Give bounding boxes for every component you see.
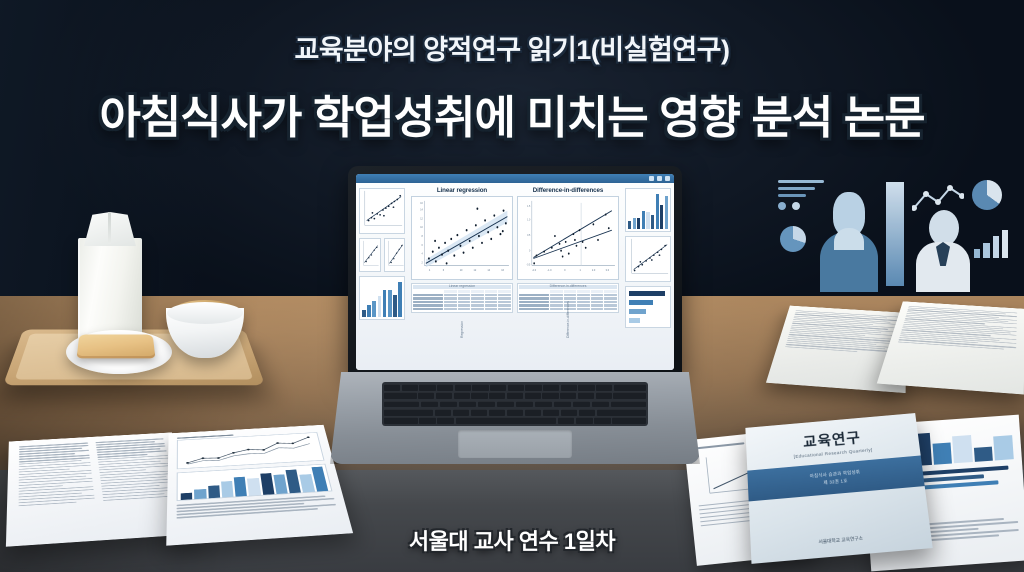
info-dot-1	[778, 202, 786, 210]
svg-text:16: 16	[420, 201, 423, 205]
svg-text:1.5: 1.5	[527, 203, 531, 207]
close-icon[interactable]	[665, 176, 670, 181]
svg-text:12: 12	[474, 268, 477, 272]
laptop-screen[interactable]: Linear regression	[356, 174, 674, 370]
svg-text:0: 0	[529, 248, 531, 252]
svg-text:16: 16	[501, 268, 504, 272]
linear-regression-block: Linear regression	[411, 187, 513, 366]
window-controls[interactable]	[649, 176, 670, 181]
difference-in-differences-block: Difference-in-differences	[517, 187, 619, 366]
toast-slice	[77, 335, 156, 359]
main-chart-area: Linear regression	[408, 183, 622, 370]
info-line-2	[778, 187, 815, 190]
analysis-dashboard: Linear regression	[356, 183, 674, 370]
svg-text:10: 10	[420, 225, 423, 229]
thumbnail-canvas: Linear regression	[0, 0, 1024, 572]
milk-carton	[78, 212, 142, 344]
page-title: 아침식사가 학업성취에 미치는 영향 분석 논문	[0, 81, 1024, 146]
side-bars-right[interactable]	[625, 188, 671, 232]
journal-band-line-1: 아침식사 습관과 학업성취	[810, 469, 861, 479]
subtitle-text: 교육분야의 양적연구 읽기1(비실험연구)	[0, 28, 1024, 67]
svg-text:12: 12	[420, 216, 423, 220]
chart-ylabel-linear-regression: Regression	[460, 238, 464, 338]
info-dot-2	[792, 202, 800, 210]
svg-text:14: 14	[420, 207, 423, 211]
chart-title-linear-regression: Linear regression	[411, 187, 513, 194]
chart-title-difference-in-differences: Difference-in-differences	[517, 187, 619, 194]
open-textbook	[778, 272, 1024, 420]
svg-text:2.0: 2.0	[592, 268, 596, 272]
text-column	[18, 442, 95, 508]
side-bars-left[interactable]	[359, 276, 405, 320]
svg-text:6: 6	[421, 242, 423, 246]
info-line-3	[778, 194, 806, 197]
svg-text:-0.5: -0.5	[526, 262, 530, 266]
pie-chart-icon-2	[972, 180, 1002, 210]
svg-text:0.5: 0.5	[527, 233, 531, 237]
chart-ylabel-difference-in-differences: Difference-in-differences	[566, 238, 570, 338]
svg-text:-1.0: -1.0	[547, 268, 552, 272]
title-overlay: 교육분야의 양적연구 읽기1(비실험연구) 아침식사가 학업성취에 미치는 영향…	[0, 28, 1024, 146]
laptop-keyboard[interactable]	[382, 382, 648, 426]
svg-text:2: 2	[421, 260, 423, 264]
svg-text:1: 1	[580, 268, 582, 272]
journal-band: 아침식사 습관과 학업성취 제 32권 1호	[747, 455, 924, 501]
maximize-icon[interactable]	[657, 176, 662, 181]
side-scatter-right[interactable]	[625, 236, 671, 282]
svg-text:3.0: 3.0	[606, 268, 610, 272]
left-chart-panel	[356, 183, 408, 370]
caption-text: 서울대 교사 연수 1일차	[0, 524, 1024, 556]
svg-text:14: 14	[487, 268, 490, 272]
bar-chart-icon	[974, 228, 1008, 258]
svg-text:8: 8	[421, 234, 423, 238]
chart-difference-in-differences[interactable]: -2.0-1.00 12.03.0 -0.500.5 1.01.5 Differ…	[517, 196, 619, 280]
chart-linear-regression[interactable]: 4610 121416 246 81012 1416 Lin	[411, 196, 513, 280]
vertical-bar-icon	[886, 182, 904, 286]
side-scatter-b[interactable]	[384, 238, 406, 272]
paper-line-chart	[177, 432, 325, 469]
laptop: Linear regression	[330, 166, 700, 496]
svg-text:6: 6	[443, 268, 445, 272]
side-scatter-a[interactable]	[359, 238, 381, 272]
side-hbars-right[interactable]	[625, 286, 671, 328]
cereal-bowl	[166, 300, 244, 362]
journal-band-line-2: 제 32권 1호	[823, 478, 848, 486]
laptop-trackpad[interactable]	[458, 430, 572, 458]
minimize-icon[interactable]	[649, 176, 654, 181]
svg-text:1.0: 1.0	[527, 217, 531, 221]
side-scatter-top[interactable]	[359, 188, 405, 234]
textbook-right-page	[877, 301, 1024, 394]
laptop-lid: Linear regression	[348, 166, 682, 378]
svg-text:4: 4	[421, 251, 423, 255]
window-title-bar	[356, 174, 674, 183]
info-line-1	[778, 180, 824, 183]
svg-text:4: 4	[429, 268, 431, 272]
svg-text:-2.0: -2.0	[532, 268, 537, 272]
right-chart-panel	[622, 183, 674, 370]
pie-chart-icon	[780, 226, 806, 252]
